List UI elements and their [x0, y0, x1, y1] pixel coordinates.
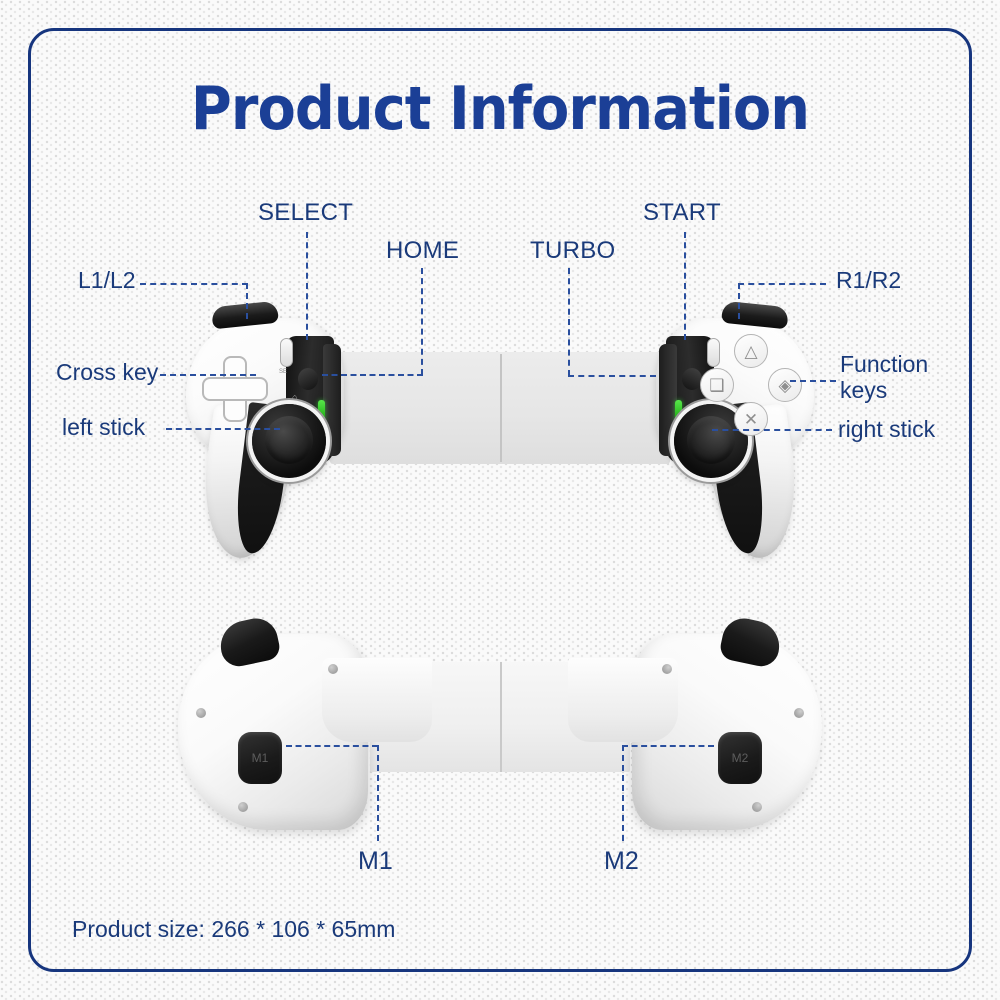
leader-home-v [421, 268, 423, 375]
select-button[interactable] [280, 338, 293, 367]
left-stick-cap[interactable] [265, 416, 313, 464]
leader-l1l2-v [246, 283, 248, 319]
right-controller-half: ST [632, 300, 832, 550]
label-cross-key: Cross key [56, 360, 158, 386]
leader-turbo-h [568, 375, 656, 377]
m1-button[interactable]: M1 [238, 732, 282, 784]
leader-m2-h [622, 745, 714, 747]
leader-leftstick-h [166, 428, 280, 430]
turbo-button[interactable] [682, 368, 702, 390]
leader-home-h [322, 374, 423, 376]
leader-start-v [684, 232, 686, 340]
label-l1l2: L1/L2 [78, 268, 136, 294]
left-controller-half: SE ⌂ [168, 300, 368, 550]
leader-m2-v [622, 745, 624, 841]
screw-hole [196, 708, 206, 718]
right-stick-cap[interactable] [687, 416, 735, 464]
leader-select-v [306, 232, 308, 340]
label-left-stick: left stick [62, 415, 145, 441]
cross-key-dpad[interactable] [202, 356, 268, 422]
label-select: SELECT [258, 200, 353, 227]
circle-target-button[interactable]: ◈ [768, 368, 802, 402]
screw-hole [752, 802, 762, 812]
home-icon: ⌂ [292, 393, 301, 401]
label-right-stick: right stick [838, 417, 935, 443]
rear-left-half: M1 [172, 620, 422, 850]
product-information-page: Product Information SE ⌂ [0, 0, 1000, 1000]
start-button[interactable] [707, 338, 720, 367]
leader-crosskey-h [160, 374, 256, 376]
leader-r1r2-h [738, 283, 826, 285]
label-home: HOME [386, 238, 459, 265]
home-button[interactable] [298, 368, 318, 390]
rear-right-half: M2 [578, 620, 828, 850]
label-function-keys: Function keys [840, 352, 950, 404]
screw-hole [238, 802, 248, 812]
leader-m1-v [377, 745, 379, 841]
product-size-text: Product size: 266 * 106 * 65mm [72, 916, 395, 943]
square-button[interactable]: ❑ [700, 368, 734, 402]
leader-functionkeys-h [790, 380, 836, 382]
triangle-button[interactable]: △ [734, 334, 768, 368]
label-r1r2: R1/R2 [836, 268, 901, 294]
leader-r1r2-v [738, 283, 740, 319]
m2-button[interactable]: M2 [718, 732, 762, 784]
screw-hole [662, 664, 672, 674]
phone-holder-bridge [330, 352, 670, 464]
label-m2: M2 [604, 847, 639, 875]
leader-rightstick-h [712, 429, 832, 431]
label-turbo: TURBO [530, 238, 616, 265]
screw-hole [794, 708, 804, 718]
rear-left-arm [322, 658, 432, 742]
leader-l1l2-h [140, 283, 248, 285]
label-start: START [643, 200, 721, 227]
label-m1: M1 [358, 847, 393, 875]
left-stick[interactable] [252, 404, 326, 478]
page-title: Product Information [35, 74, 965, 144]
select-micro-label: SE [279, 369, 287, 375]
leader-m1-h [286, 745, 378, 747]
leader-turbo-v [568, 268, 570, 376]
screw-hole [328, 664, 338, 674]
